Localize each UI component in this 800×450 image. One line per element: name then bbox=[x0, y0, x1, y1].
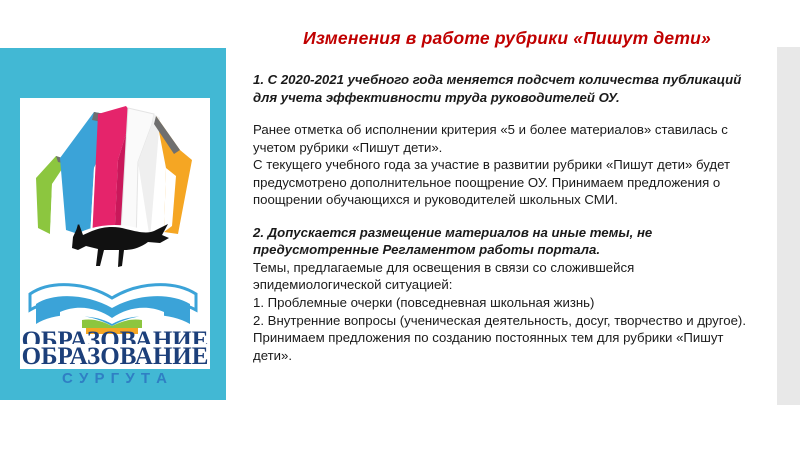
body-point-2: 2. Допускается размещение материалов на … bbox=[253, 224, 761, 259]
logo-card: ОБРАЗОВАНИЕ bbox=[20, 98, 210, 352]
spacer bbox=[253, 209, 761, 224]
slide-content: Изменения в работе рубрики «Пишут дети» … bbox=[253, 28, 761, 364]
body-paragraph-2: С текущего учебного года за участие в ра… bbox=[253, 156, 761, 209]
logo-sub-text-label: С У Р Г У Т А bbox=[20, 370, 210, 387]
slide-title: Изменения в работе рубрики «Пишут дети» bbox=[253, 28, 761, 49]
right-side-strip bbox=[777, 47, 800, 405]
body-list-item-1: 1. Проблемные очерки (повседневная школь… bbox=[253, 294, 761, 312]
slide-body: 1. С 2020-2021 учебного года меняется по… bbox=[253, 71, 761, 364]
spacer bbox=[253, 106, 761, 121]
body-paragraph-1: Ранее отметка об исполнении критерия «5 … bbox=[253, 121, 761, 156]
logo-main-text-label: ОБРАЗОВАНИЕ bbox=[20, 344, 210, 369]
logo-panel: ОБРАЗОВАНИЕ ОБРАЗОВАНИЕ С У Р Г У Т А bbox=[0, 48, 226, 400]
body-paragraph-3: Темы, предлагаемые для освещения в связи… bbox=[253, 259, 761, 294]
body-paragraph-4: Принимаем предложения по созданию постоя… bbox=[253, 329, 761, 364]
body-list-item-2: 2. Внутренние вопросы (ученическая деяте… bbox=[253, 312, 761, 330]
body-point-1: 1. С 2020-2021 учебного года меняется по… bbox=[253, 71, 761, 106]
obrazovanie-surguta-logo-graphic: ОБРАЗОВАНИЕ bbox=[20, 98, 210, 352]
